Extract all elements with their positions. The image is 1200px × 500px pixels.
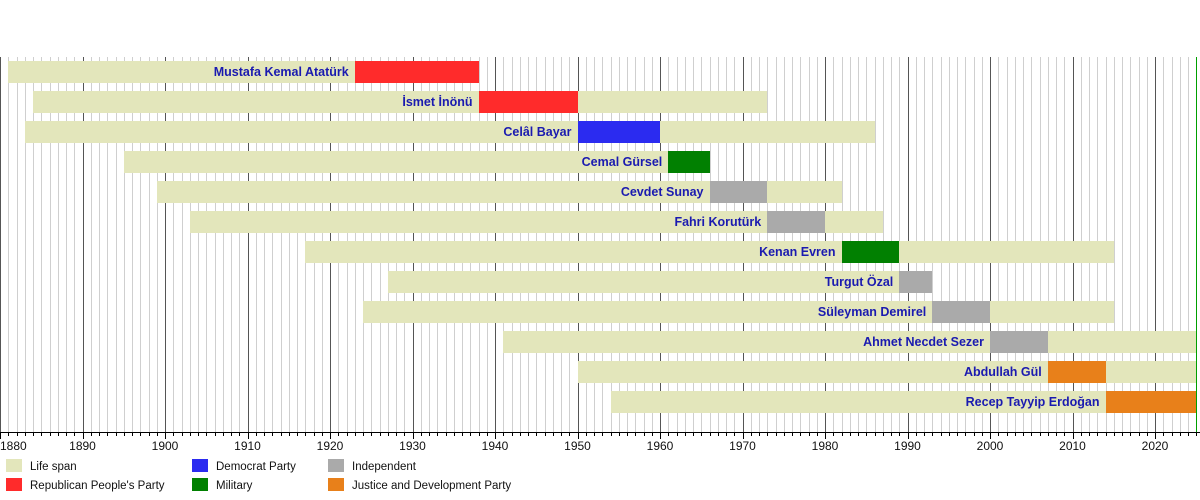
timeline-row[interactable]: Celâl Bayar [0,117,1200,147]
axis-tick-minor [833,432,834,436]
axis-tick-minor [404,432,405,436]
axis-tick-minor [850,432,851,436]
axis-tick-minor [462,432,463,436]
axis-tick-minor [627,432,628,436]
axis-tick-minor [619,432,620,436]
axis-tick-minor [8,432,9,436]
axis-line [0,432,1200,433]
term-segment-mil[interactable] [842,241,900,263]
legend-swatch-dem [192,459,208,472]
axis-tick-minor [1188,432,1189,436]
axis-tick-minor [916,432,917,436]
legend-item-life[interactable]: Life span [6,458,165,477]
axis-tick-minor [1048,432,1049,436]
axis-tick-minor [528,432,529,436]
legend-item-ind[interactable]: Independent [328,458,511,477]
axis-tick-minor [157,432,158,436]
axis-tick-major [1155,432,1156,439]
axis-tick-minor [1147,432,1148,436]
axis-tick-minor [693,432,694,436]
axis-tick-minor [429,432,430,436]
axis-tick-minor [173,432,174,436]
axis-tick-minor [512,432,513,436]
axis-tick-minor [891,432,892,436]
legend-label: Justice and Development Party [352,477,511,496]
axis-tick-minor [677,432,678,436]
timeline-row[interactable]: Süleyman Demirel [0,297,1200,327]
life-span-bar[interactable] [305,241,1114,263]
axis-tick-minor [272,432,273,436]
axis-tick-minor [858,432,859,436]
axis-tick-minor [363,432,364,436]
axis-tick-minor [553,432,554,436]
axis-tick-minor [842,432,843,436]
axis-tick-minor [594,432,595,436]
axis-tick-label: 1980 [812,439,839,453]
life-span-bar[interactable] [33,91,767,113]
axis-tick-minor [1122,432,1123,436]
term-segment-ind[interactable] [710,181,768,203]
axis-tick-minor [116,432,117,436]
axis-tick-minor [487,432,488,436]
axis-tick-label: 1900 [152,439,179,453]
axis-tick-minor [1114,432,1115,436]
axis-tick-minor [305,432,306,436]
axis-tick-major [495,432,496,439]
axis-tick-minor [454,432,455,436]
axis-tick-minor [701,432,702,436]
legend-swatch-rpp [6,478,22,491]
term-segment-akp[interactable] [1048,361,1106,383]
term-segment-dem[interactable] [578,121,661,143]
axis-tick-minor [1056,432,1057,436]
axis-tick-minor [520,432,521,436]
axis-tick-minor [1081,432,1082,436]
axis-tick-minor [817,432,818,436]
legend-swatch-mil [192,478,208,491]
axis-tick-minor [25,432,26,436]
timeline-row[interactable]: Fahri Korutürk [0,207,1200,237]
axis-tick-minor [1023,432,1024,436]
axis-tick-major [248,432,249,439]
life-span-bar[interactable] [388,271,933,293]
axis-tick-minor [446,432,447,436]
timeline-row[interactable]: Abdullah Gül [0,357,1200,387]
axis-tick-label: 1930 [399,439,426,453]
axis-tick-label: 1910 [234,439,261,453]
axis-tick-minor [998,432,999,436]
axis-tick-minor [982,432,983,436]
axis-tick-minor [866,432,867,436]
axis-tick-minor [91,432,92,436]
axis-tick-major [908,432,909,439]
term-segment-ind[interactable] [990,331,1048,353]
axis-tick-minor [965,432,966,436]
axis-tick-minor [734,432,735,436]
axis-tick-minor [99,432,100,436]
axis-tick-minor [149,432,150,436]
axis-tick-minor [256,432,257,436]
term-segment-mil[interactable] [668,151,709,173]
axis-tick-minor [17,432,18,436]
axis-tick-minor [759,432,760,436]
term-segment-rpp[interactable] [355,61,479,83]
axis-tick-major [660,432,661,439]
axis-tick-minor [767,432,768,436]
legend-label: Republican People's Party [30,477,165,496]
axis-tick-minor [503,432,504,436]
axis-tick-minor [33,432,34,436]
axis-tick-label: 2010 [1059,439,1086,453]
axis-tick-minor [1015,432,1016,436]
axis-tick-minor [1089,432,1090,436]
axis-tick-minor [644,432,645,436]
term-segment-rpp[interactable] [479,91,578,113]
axis-tick-minor [124,432,125,436]
axis-tick-minor [74,432,75,436]
axis-tick-minor [974,432,975,436]
axis-tick-minor [1106,432,1107,436]
axis-tick-label: 1880 [0,439,27,453]
axis-tick-major [413,432,414,439]
axis-tick-minor [685,432,686,436]
axis-tick-minor [132,432,133,436]
axis-tick-minor [396,432,397,436]
axis-tick-minor [223,432,224,436]
term-segment-ind[interactable] [767,211,825,233]
axis-tick-minor [800,432,801,436]
axis-tick-minor [545,432,546,436]
axis-tick-minor [347,432,348,436]
axis-tick-minor [355,432,356,436]
legend-swatch-akp [328,478,344,491]
axis-tick-minor [281,432,282,436]
axis-tick-label: 1950 [564,439,591,453]
axis-tick-minor [611,432,612,436]
axis-tick-label: 1960 [647,439,674,453]
timeline-row[interactable]: Cemal Gürsel [0,147,1200,177]
axis-tick-minor [809,432,810,436]
axis-tick-minor [899,432,900,436]
axis-tick-minor [437,432,438,436]
axis-tick-minor [883,432,884,436]
timeline-row[interactable]: Turgut Özal [0,267,1200,297]
timeline-row[interactable]: Recep Tayyip Erdoğan [0,387,1200,417]
axis-tick-minor [322,432,323,436]
life-span-bar[interactable] [124,151,710,173]
axis-tick-minor [784,432,785,436]
axis-tick-minor [941,432,942,436]
axis-tick-minor [182,432,183,436]
axis-tick-label: 1990 [894,439,921,453]
axis-tick-major [165,432,166,439]
axis-tick-major [1073,432,1074,439]
life-span-bar[interactable] [25,121,875,143]
axis-tick-minor [41,432,42,436]
axis-tick-minor [668,432,669,436]
life-span-bar[interactable] [503,331,1196,353]
axis-tick-major [743,432,744,439]
axis-tick-minor [1163,432,1164,436]
axis-tick-major [990,432,991,439]
legend: Life spanRepublican People's Party Democ… [0,458,1200,500]
term-segment-akp[interactable] [1106,391,1197,413]
axis-tick-label: 1890 [69,439,96,453]
axis-tick-minor [1130,432,1131,436]
legend-column-1: Life spanRepublican People's Party [6,458,165,496]
axis-tick-minor [586,432,587,436]
axis-tick-major [330,432,331,439]
legend-label: Independent [352,458,416,477]
plot-area: Mustafa Kemal Atatürkİsmet İnönüCelâl Ba… [0,57,1200,432]
axis-tick-minor [718,432,719,436]
axis-tick-minor [380,432,381,436]
axis-tick-label: 1970 [729,439,756,453]
life-span-bar[interactable] [363,301,1114,323]
legend-column-2: Democrat PartyMilitary [192,458,296,496]
legend-swatch-life [6,459,22,472]
legend-item-akp[interactable]: Justice and Development Party [328,477,511,496]
axis-tick-minor [932,432,933,436]
axis-tick-major [0,432,1,439]
axis-tick-minor [602,432,603,436]
axis-tick-minor [776,432,777,436]
axis-tick-minor [1196,432,1197,436]
axis-tick-minor [710,432,711,436]
timeline-rows: Mustafa Kemal Atatürkİsmet İnönüCelâl Ba… [0,57,1200,432]
axis-tick-minor [215,432,216,436]
axis-tick-label: 2020 [1142,439,1169,453]
axis-tick-minor [726,432,727,436]
axis-tick-minor [569,432,570,436]
axis-tick-minor [206,432,207,436]
axis-tick-minor [190,432,191,436]
term-segment-ind[interactable] [899,271,932,293]
axis-tick-minor [1040,432,1041,436]
axis-tick-minor [1064,432,1065,436]
axis-tick-minor [924,432,925,436]
axis-tick-minor [1139,432,1140,436]
axis-tick-label: 1920 [317,439,344,453]
term-segment-ind[interactable] [932,301,990,323]
axis-tick-minor [957,432,958,436]
axis-tick-minor [792,432,793,436]
axis-tick-major [825,432,826,439]
axis-tick-minor [1180,432,1181,436]
legend-item-rpp[interactable]: Republican People's Party [6,477,165,496]
axis-tick-minor [421,432,422,436]
axis-tick-minor [479,432,480,436]
axis-tick-minor [231,432,232,436]
timeline-row[interactable]: Kenan Evren [0,237,1200,267]
axis-tick-minor [338,432,339,436]
axis-tick-major [578,432,579,439]
axis-tick-minor [388,432,389,436]
legend-label: Life span [30,458,77,477]
timeline-row[interactable]: Cevdet Sunay [0,177,1200,207]
timeline-chart: Mustafa Kemal Atatürkİsmet İnönüCelâl Ba… [0,0,1200,500]
timeline-row[interactable]: Mustafa Kemal Atatürk [0,57,1200,87]
axis-tick-minor [107,432,108,436]
axis-tick-minor [1172,432,1173,436]
axis-tick-major [83,432,84,439]
axis-tick-minor [297,432,298,436]
axis-tick-label: 2000 [977,439,1004,453]
axis-tick-minor [1007,432,1008,436]
axis-tick-label: 1940 [482,439,509,453]
axis-tick-minor [239,432,240,436]
axis-tick-minor [751,432,752,436]
axis-tick-minor [652,432,653,436]
axis-tick-minor [140,432,141,436]
timeline-row[interactable]: Ahmet Necdet Sezer [0,327,1200,357]
axis-tick-minor [536,432,537,436]
axis-tick-minor [1031,432,1032,436]
timeline-row[interactable]: İsmet İnönü [0,87,1200,117]
axis-tick-minor [1097,432,1098,436]
legend-label: Democrat Party [216,458,296,477]
axis-tick-minor [58,432,59,436]
axis-tick-minor [289,432,290,436]
axis-tick-minor [470,432,471,436]
axis-tick-minor [50,432,51,436]
axis-tick-minor [264,432,265,436]
legend-column-3: IndependentJustice and Development Party [328,458,511,496]
legend-swatch-ind [328,459,344,472]
axis-tick-minor [66,432,67,436]
x-axis: 1880189019001910192019301940195019601970… [0,432,1200,458]
axis-tick-minor [875,432,876,436]
axis-tick-minor [561,432,562,436]
axis-tick-minor [371,432,372,436]
legend-label: Military [216,477,252,496]
legend-item-mil[interactable]: Military [192,477,296,496]
axis-tick-minor [635,432,636,436]
axis-tick-minor [198,432,199,436]
axis-tick-minor [314,432,315,436]
legend-item-dem[interactable]: Democrat Party [192,458,296,477]
axis-tick-minor [949,432,950,436]
